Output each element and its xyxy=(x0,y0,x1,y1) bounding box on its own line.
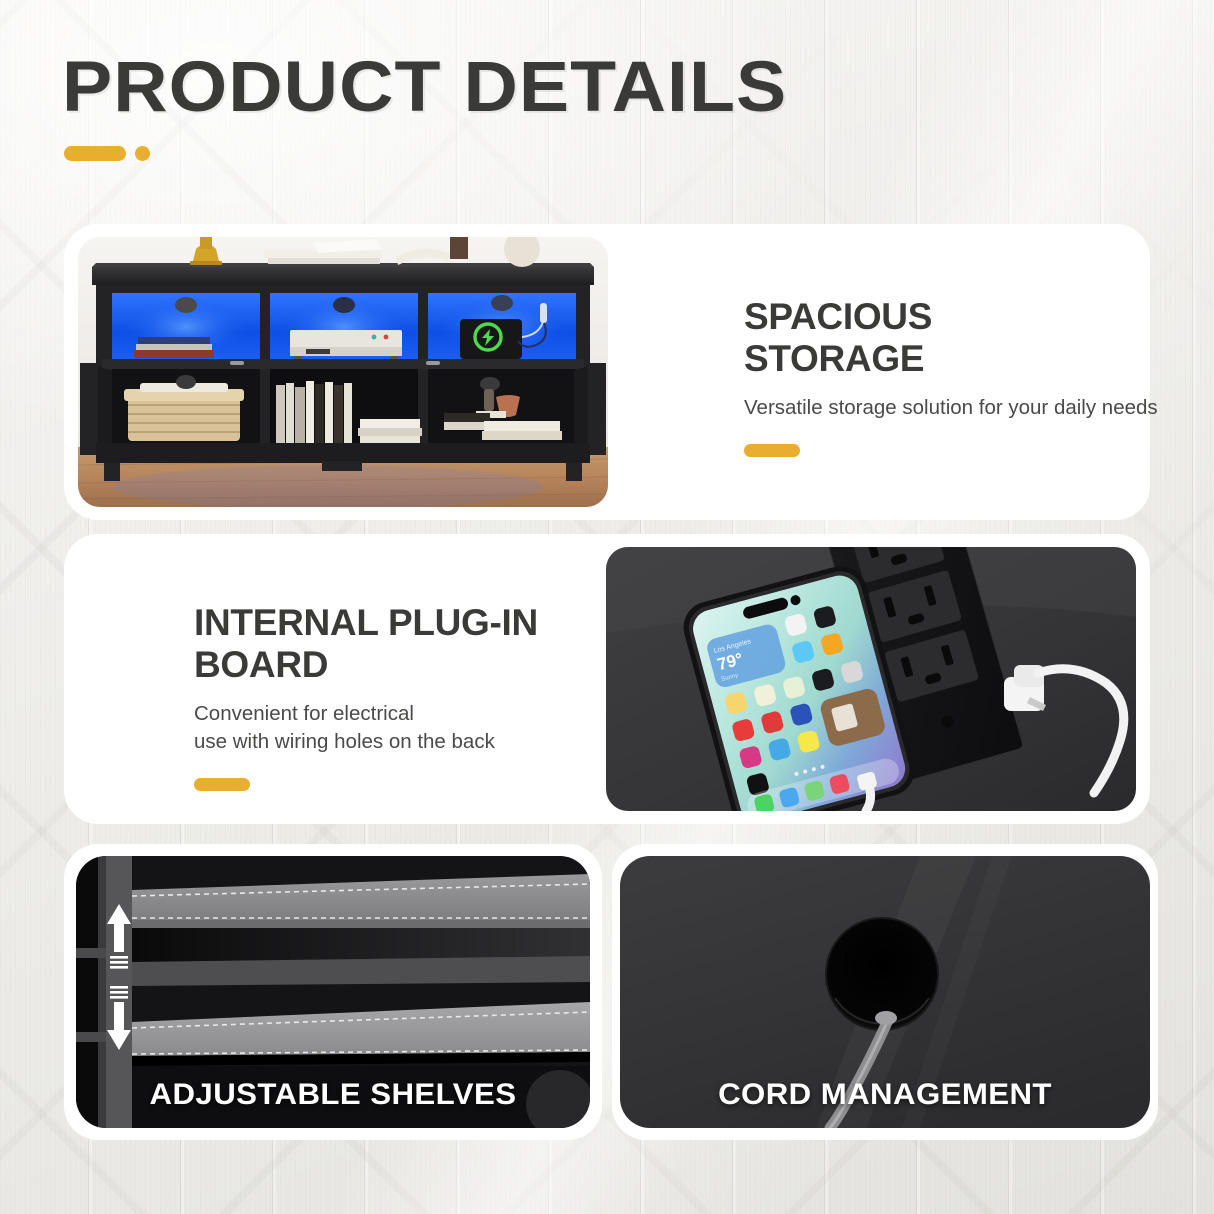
photo-cord-management: CORD MANAGEMENT xyxy=(620,856,1150,1128)
feature-title-line-2: BOARD xyxy=(194,644,328,685)
accent-dot xyxy=(135,146,150,161)
product-details-page: PRODUCT DETAILS xyxy=(0,0,1214,1214)
feature-title-line-1: SPACIOUS xyxy=(744,296,932,337)
title-accent-marker xyxy=(64,146,150,161)
photo-adjustable-shelves: ADJUSTABLE SHELVES xyxy=(76,856,590,1128)
feature-title-line-2: STORAGE xyxy=(744,338,924,379)
feature-accent-pill xyxy=(194,778,250,791)
feature-card-internal-plug-in-board: INTERNAL PLUG-IN BOARD Convenient for el… xyxy=(64,534,1150,824)
feature-text-spacious-storage: SPACIOUS STORAGE Versatile storage solut… xyxy=(744,296,1184,457)
photo-spacious-storage xyxy=(78,237,608,507)
tile-label-adjustable-shelves: ADJUSTABLE SHELVES xyxy=(76,1078,590,1112)
photo-internal-plug-in-board: Los Angeles 79° Sunny xyxy=(606,547,1136,811)
feature-card-spacious-storage: SPACIOUS STORAGE Versatile storage solut… xyxy=(64,224,1150,520)
tile-label-cord-management: CORD MANAGEMENT xyxy=(620,1078,1150,1112)
feature-title-internal-plug-in-board: INTERNAL PLUG-IN BOARD xyxy=(194,602,664,686)
feature-accent-pill xyxy=(744,444,800,457)
feature-title-spacious-storage: SPACIOUS STORAGE xyxy=(744,296,1184,380)
feature-subtitle-internal-plug-in-board: Convenient for electrical use with wirin… xyxy=(194,700,664,757)
feature-text-internal-plug-in-board: INTERNAL PLUG-IN BOARD Convenient for el… xyxy=(194,602,664,791)
accent-bar xyxy=(64,146,126,161)
page-title: PRODUCT DETAILS xyxy=(62,52,787,123)
feature-title-line-1: INTERNAL PLUG-IN xyxy=(194,602,538,643)
feature-subtitle-spacious-storage: Versatile storage solution for your dail… xyxy=(744,394,1184,422)
